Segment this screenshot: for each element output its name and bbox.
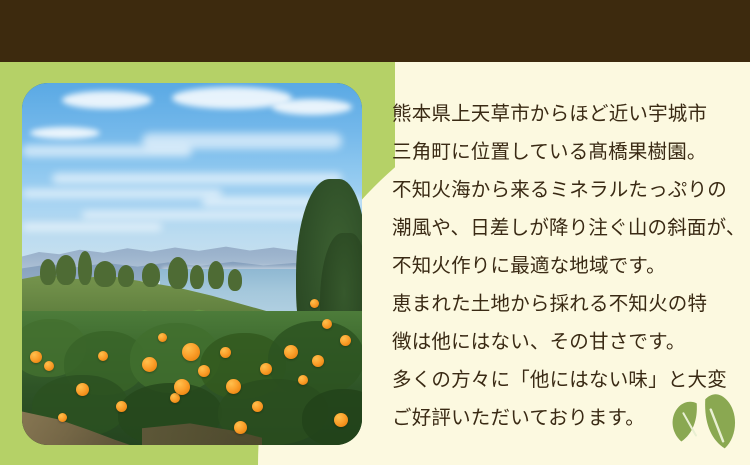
description-line: 不知火海から来るミネラルたっぷりの xyxy=(392,171,732,209)
orange-fruit xyxy=(220,347,231,358)
ridge-tree xyxy=(168,257,188,289)
cloud xyxy=(62,91,152,109)
orange-fruit xyxy=(334,413,348,427)
promo-banner: 宇城市の自然の恵みをお届けします。 xyxy=(0,0,750,465)
description-line: 熊本県上天草市からほど近い宇城市 xyxy=(392,95,732,133)
orange-fruit xyxy=(182,343,200,361)
description-line: 恵まれた土地から採れる不知火の特 xyxy=(392,285,732,323)
orange-fruit xyxy=(158,333,167,342)
ridge-tree xyxy=(228,269,242,291)
cloud xyxy=(22,189,222,198)
cloud xyxy=(52,173,342,184)
cloud xyxy=(142,133,342,149)
header-bar xyxy=(0,0,750,62)
ridge-tree xyxy=(142,263,160,287)
orange-fruit xyxy=(174,379,190,395)
orange-fruit xyxy=(142,357,157,372)
orange-fruit xyxy=(226,379,241,394)
ridge-tree xyxy=(190,265,204,289)
description-line: 不知火作りに最適な地域です。 xyxy=(392,247,732,285)
cloud xyxy=(82,211,332,219)
ridge-tree xyxy=(40,259,56,285)
ridge-tree xyxy=(94,261,116,287)
orange-fruit xyxy=(298,375,308,385)
cloud xyxy=(30,127,100,139)
photo-canvas xyxy=(22,83,362,445)
description-line: 潮風や、日差しが降り注ぐ山の斜面が、 xyxy=(392,209,732,247)
ridge-tree xyxy=(56,255,76,285)
cloud xyxy=(22,223,162,231)
orange-fruit xyxy=(252,401,263,412)
leaf-icon xyxy=(668,384,738,452)
orange-fruit xyxy=(310,299,319,308)
orange-fruit xyxy=(58,413,67,422)
cloud xyxy=(272,99,352,115)
orange-fruit xyxy=(340,335,351,346)
ridge-tree xyxy=(118,265,134,287)
orange-fruit xyxy=(260,363,272,375)
orange-fruit xyxy=(76,383,89,396)
orange-fruit xyxy=(312,355,324,367)
ridge-tree xyxy=(208,261,224,289)
orange-fruit xyxy=(30,351,42,363)
orange-fruit xyxy=(44,361,54,371)
ridge-tree xyxy=(78,251,92,285)
orchard-photo xyxy=(22,83,362,445)
description-line: 徴は他にはない、その甘さです。 xyxy=(392,323,732,361)
orange-fruit xyxy=(116,401,127,412)
orange-fruit xyxy=(98,351,108,361)
orange-fruit xyxy=(198,365,210,377)
orange-fruit xyxy=(322,319,332,329)
orange-fruit xyxy=(284,345,298,359)
description-line: 三角町に位置している髙橋果樹園。 xyxy=(392,133,732,171)
orange-fruit xyxy=(234,421,247,434)
